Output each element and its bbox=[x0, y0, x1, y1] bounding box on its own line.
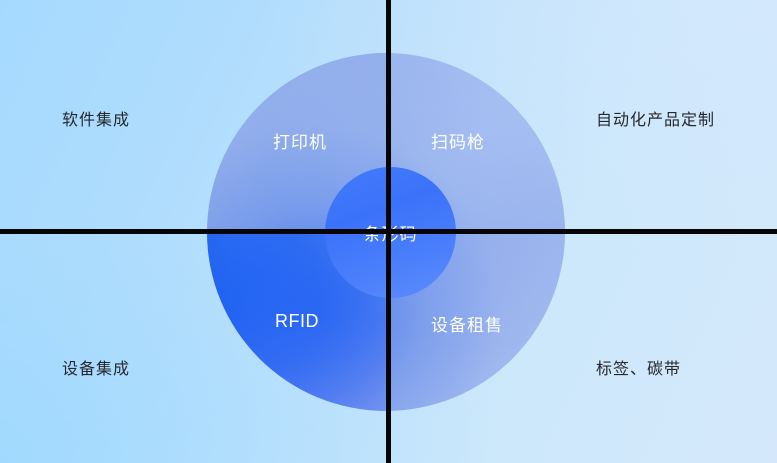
outer-label-automation-customization: 自动化产品定制 bbox=[596, 106, 715, 130]
segment-label-scanner: 扫码枪 bbox=[431, 128, 485, 153]
outer-label-software-integration: 软件集成 bbox=[62, 106, 130, 130]
axis-horizontal-divider bbox=[0, 229, 777, 234]
outer-label-labels-ribbons: 标签、碳带 bbox=[596, 355, 681, 379]
outer-label-device-integration: 设备集成 bbox=[62, 355, 130, 379]
segment-label-rfid: RFID bbox=[275, 311, 319, 332]
diagram-canvas: 条形码 打印机 扫码枪 RFID 设备租售 软件集成 自动化产品定制 设备集成 … bbox=[0, 0, 777, 463]
segment-label-rental: 设备租售 bbox=[431, 311, 503, 336]
segment-label-printer: 打印机 bbox=[273, 128, 327, 153]
